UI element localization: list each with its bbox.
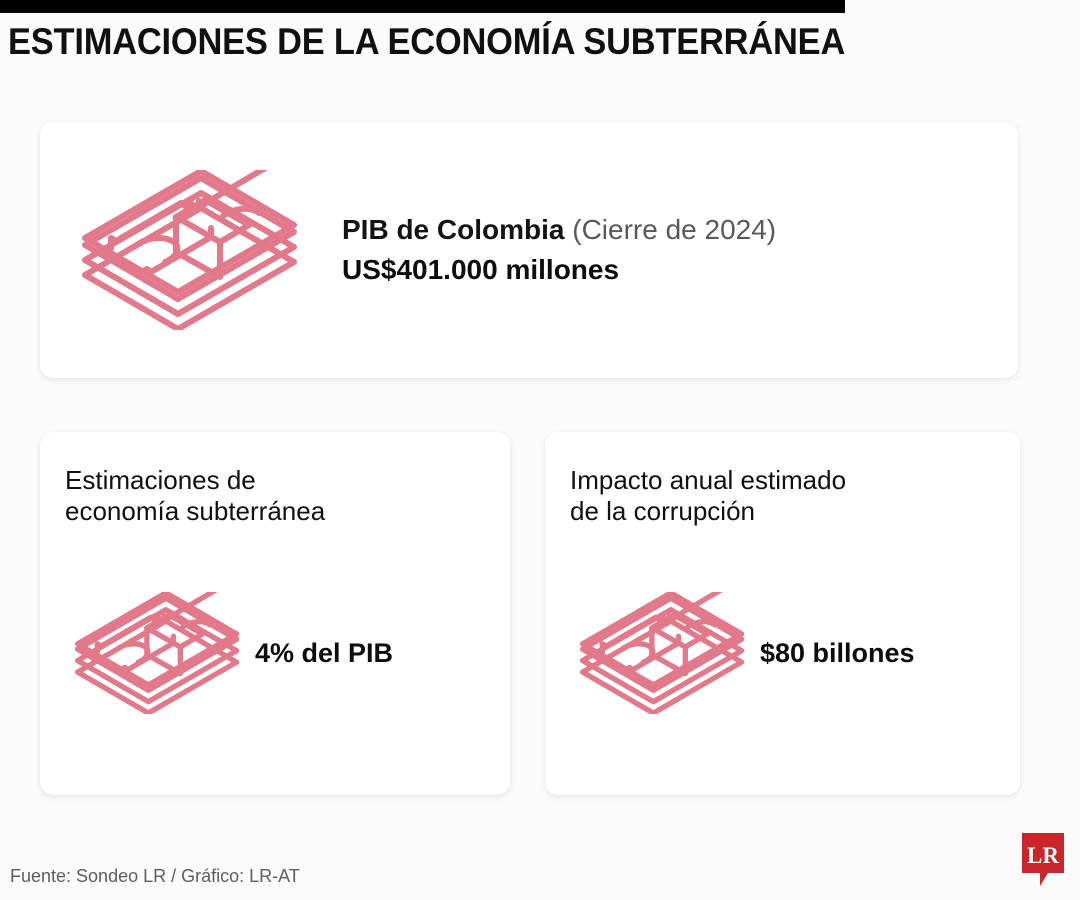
gdp-label: PIB de Colombia (342, 214, 564, 245)
gdp-card-row: PIB de Colombia (Cierre de 2024) US$401.… (40, 122, 1018, 378)
money-stack-icon (70, 592, 245, 714)
header-black-rule (0, 0, 845, 13)
source-note: Fuente: Sondeo LR / Gráfico: LR-AT (10, 866, 300, 887)
card-corruption: Impacto anual estimado de la corrupción (545, 432, 1020, 795)
gdp-icon-container (40, 170, 340, 330)
lr-logo: LR (1020, 830, 1066, 888)
corruption-value: $80 billones (760, 638, 915, 669)
gdp-text-block: PIB de Colombia (Cierre de 2024) US$401.… (340, 212, 1018, 289)
money-stack-icon (575, 592, 750, 714)
lr-logo-icon: LR (1020, 830, 1066, 888)
page-title: ESTIMACIONES DE LA ECONOMÍA SUBTERRÁNEA (8, 21, 845, 62)
money-stack-icon (75, 170, 305, 330)
shadow-economy-heading: Estimaciones de economía subterránea (65, 465, 490, 526)
shadow-economy-icon-container (60, 592, 255, 714)
lr-logo-text: LR (1027, 843, 1059, 868)
gdp-label-line: PIB de Colombia (Cierre de 2024) (342, 212, 1018, 249)
card-gdp: PIB de Colombia (Cierre de 2024) US$401.… (40, 122, 1018, 378)
corruption-heading: Impacto anual estimado de la corrupción (570, 465, 1000, 526)
gdp-period: (Cierre de 2024) (572, 214, 776, 245)
card-shadow-economy: Estimaciones de economía subterránea (40, 432, 510, 795)
corruption-icon-container (565, 592, 760, 714)
corruption-body: $80 billones (565, 592, 1002, 714)
shadow-economy-value: 4% del PIB (255, 638, 393, 669)
shadow-economy-body: 4% del PIB (60, 592, 492, 714)
gdp-value: US$401.000 millones (342, 252, 1018, 289)
